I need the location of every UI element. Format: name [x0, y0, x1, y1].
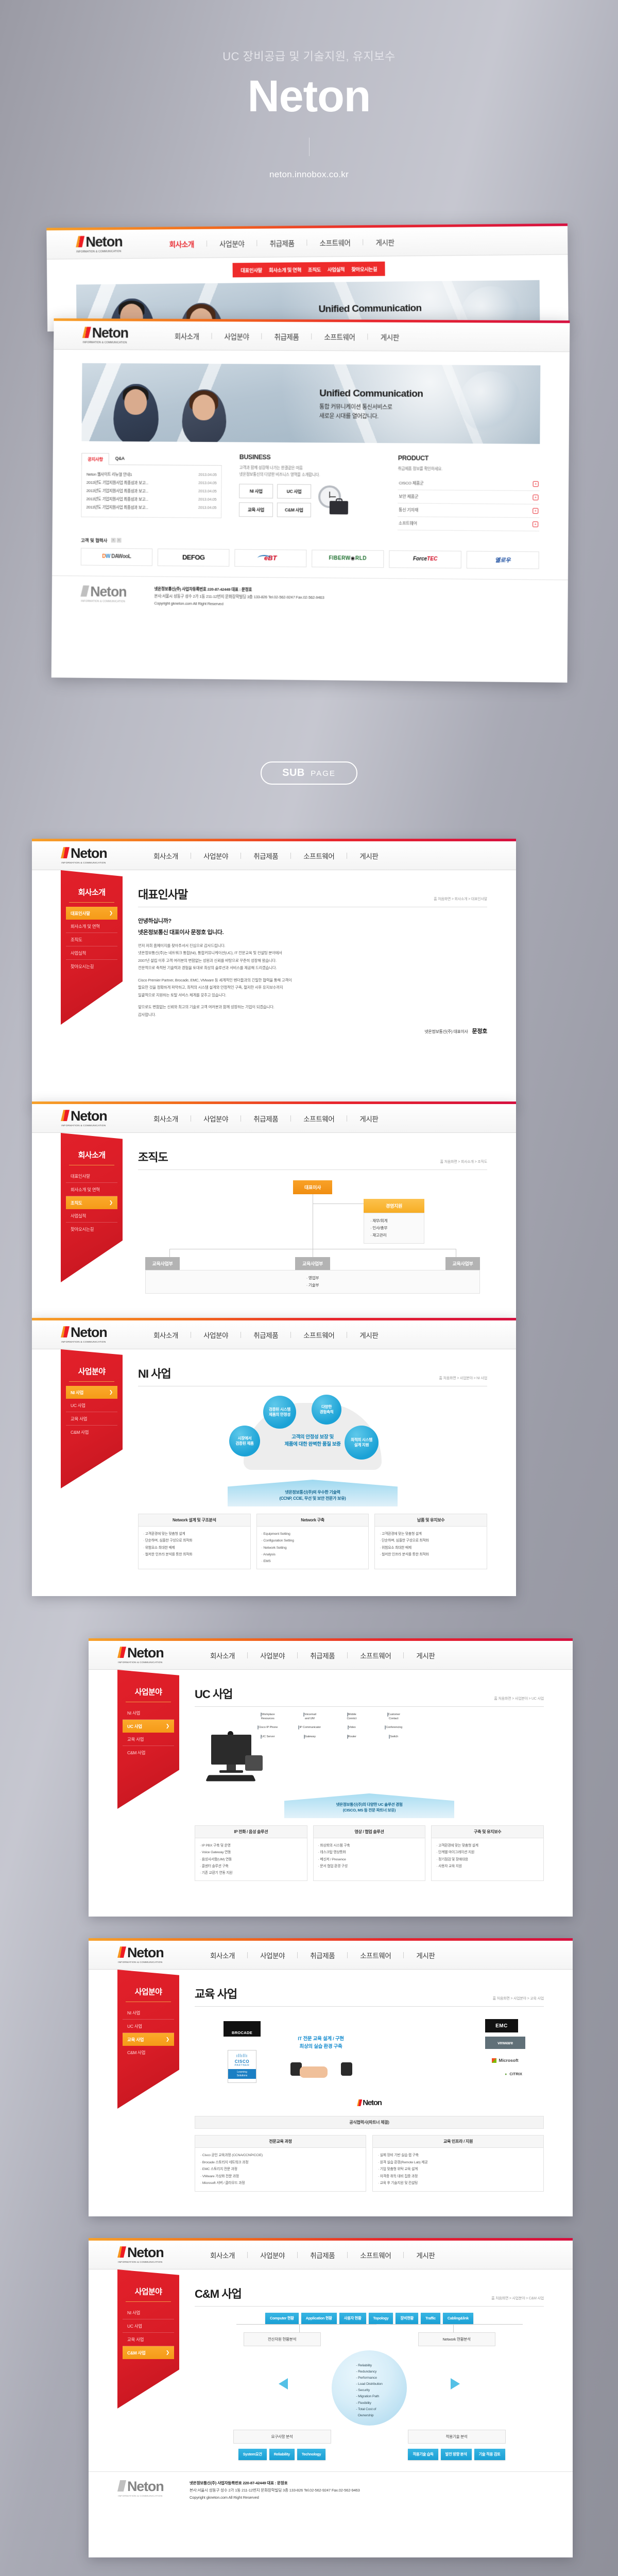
sidebar-item-label: NI 사업: [127, 2010, 140, 2016]
card-line: · Equipment Setting: [262, 1531, 364, 1537]
logo-tagline: INFORMATION & COMMUNICATION: [117, 2495, 174, 2498]
logo[interactable]: Neton INFORMATION & COMMUNICATION: [61, 846, 118, 865]
card-body: · Equipment Setting · Configuration Sett…: [257, 1527, 369, 1569]
brand-label: CITRIX: [509, 2072, 522, 2076]
uc-computer-illustration: [207, 1735, 261, 1786]
product-list: CISCO 제품군 + 보안 제품군 + 통신 기자재 + 소프트웨어 +: [398, 477, 540, 531]
nav-item-board[interactable]: 게시판: [347, 851, 390, 861]
card-line: · Voice Gateway 연동: [200, 1849, 302, 1856]
uc-icon-label: IP Communicator: [299, 1726, 321, 1729]
cm-mid-right: Network 현황분석: [418, 2332, 495, 2346]
microsoft-squares-icon: [492, 2058, 496, 2063]
nav-item-products[interactable]: 취급제품: [298, 1650, 347, 1660]
nav-item-board[interactable]: 게시판: [363, 236, 406, 247]
notice-title: 2013년도 기업지원사업 최종성과 보고...: [86, 504, 148, 511]
partner-name: DEFOG: [182, 553, 205, 561]
card-line: · EMS: [262, 1558, 364, 1565]
hero-divider: [309, 138, 310, 156]
notice-list: Neton 웹사이트 리뉴얼 안내1 2013.04.05 2013년도 기업지…: [81, 465, 221, 518]
logo-tagline: INFORMATION & COMMUNICATION: [117, 1662, 178, 1664]
list-item[interactable]: 2013년도 기업지원사업 최종성과 보고... 2013.04.05: [87, 486, 217, 496]
business-button-edu[interactable]: 교육 사업: [239, 502, 273, 517]
global-nav: 회사소개 사업분야 취급제품 소프트웨어 게시판: [141, 1330, 390, 1340]
ni-circle-3: 시장에서 검증된 제품: [229, 1426, 260, 1456]
side-nav-inner: 사업분야 NI 사업 ❯ UC 사업 ❯ 교육 사업 ❯ C: [61, 1352, 123, 1438]
subnav-item-greeting[interactable]: 대표인사말: [241, 266, 262, 274]
subpage-edu: Neton INFORMATION & COMMUNICATION 회사소개 사…: [89, 1938, 573, 2216]
cm-mid-row: 전산자원 현황분석 Network 현황분석: [195, 2332, 544, 2346]
uc-icon-label: Workplace Resources: [261, 1713, 275, 1720]
plus-icon[interactable]: +: [533, 508, 538, 514]
cm-pill-traffic: Traffic: [421, 2313, 440, 2324]
divider: [195, 1706, 544, 1707]
sidebar-item-label: NI 사업: [71, 1389, 83, 1396]
side-nav: 사업분야 NI 사업 ❯ UC 사업 ❯ 교육 사업 ❯ C: [117, 1970, 179, 2109]
uc-icon-customer: Customer Contact: [374, 1713, 414, 1721]
badge-normal-text: PAGE: [311, 769, 336, 778]
footer-logo: Neton INFORMATION & COMMUNICATION: [117, 2480, 171, 2498]
nav-item-board[interactable]: 게시판: [404, 1650, 447, 1660]
business-button-cm[interactable]: C&M 사업: [277, 502, 311, 517]
side-nav: 사업분야 NI 사업 ❯ UC 사업 ❯ 교육 사업 ❯ C: [117, 1670, 179, 1809]
site-header: Neton INFORMATION & COMMUNICATION 회사소개 사…: [32, 841, 516, 870]
subpage-main: C&M 사업 홈 처음화면 > 사업분야 > C&M 사업 Computer 현…: [179, 2269, 573, 2460]
sidebar-item-about[interactable]: 회사소개 및 연혁 ❯: [66, 1183, 117, 1196]
subpage-main: UC 사업 홈 처음화면 > 사업분야 > UC 사업 Workplace Re…: [179, 1670, 573, 1881]
sidebar-item-edu[interactable]: 교육 사업 ❯: [66, 1412, 117, 1426]
cm-bot-head-right: 적용기술 분석: [408, 2430, 506, 2444]
logo[interactable]: Neton INFORMATION & COMMUNICATION: [61, 1109, 118, 1127]
logo[interactable]: Neton INFORMATION & COMMUNICATION: [117, 2246, 175, 2264]
nav-item-products[interactable]: 취급제품: [241, 1113, 290, 1124]
ni-card-maintain: 납품 및 유지보수 · 고객환경에 맞는 맞춤형 설계 · 단순하며, 심플한 …: [374, 1514, 487, 1569]
uc-icon-voicemail: Voicemail and UM: [290, 1713, 330, 1721]
nav-item-software[interactable]: 소프트웨어: [348, 1650, 403, 1660]
banner-heading: Unified Communication: [318, 303, 421, 315]
list-item[interactable]: 2013년도 기업지원사업 최종성과 보고... 2013.04.05: [87, 495, 217, 504]
card-line: · 기업 맞춤형 위탁 교육 설계: [378, 2166, 538, 2173]
hero-subtitle: UC 장비공급 및 기술지원, 유지보수: [0, 47, 618, 64]
side-nav-inner: 회사소개 대표인사말 ❯ 회사소개 및 연혁 ❯ 조직도 ❯: [61, 1136, 123, 1235]
sidebar-item-ni[interactable]: NI 사업 ❯: [123, 1706, 174, 1720]
partner-logo-forcetec[interactable]: ForceTEC: [389, 550, 461, 568]
sidebar-item-ni[interactable]: NI 사업 ❯: [123, 2006, 174, 2020]
nav-item-board[interactable]: 게시판: [347, 1113, 390, 1124]
side-nav: 사업분야 NI 사업 ❯ UC 사업 ❯ 교육 사업 ❯ C: [61, 1349, 123, 1488]
subnav-item-directions[interactable]: 찾아오시는길: [351, 265, 377, 273]
index-mockup-front: Neton INFORMATION & COMMUNICATION 회사소개 사…: [51, 318, 570, 683]
brand-label: BROCADE: [232, 2030, 252, 2035]
uc-icon-gateway: Gateway: [290, 1735, 330, 1739]
sidebar-item-uc[interactable]: UC 사업 ❯: [66, 1399, 117, 1412]
ni-arrow-line-1: 넷온정보통신(주)의 우수한 기술력: [138, 1489, 487, 1496]
face-decor: [192, 395, 215, 420]
sidebar-item-label: 교육 사업: [127, 2037, 144, 2043]
sidebar-item-edu[interactable]: 교육 사업 ❯: [123, 1733, 174, 1746]
ni-arrow-line-2: (CCNP, CCIE, 무선 및 보안 전문가 보유): [138, 1496, 487, 1502]
plus-icon[interactable]: +: [533, 481, 539, 487]
nav-item-company[interactable]: 회사소개: [162, 330, 212, 341]
uc-icon-label: Customer Contact: [388, 1713, 400, 1720]
nav-item-products[interactable]: 취급제품: [298, 1950, 347, 1960]
brand-logo-cisco: ıllıllı CISCO PARTNER Learning Solutions: [228, 2050, 256, 2083]
uc-diagram: Workplace Resources Voicemail and UM Mob…: [195, 1713, 544, 1790]
uc-icon-conferencing: Conferencing: [374, 1726, 414, 1730]
nav-item-business[interactable]: 사업분야: [191, 1113, 241, 1124]
sidebar-item-label: C&M 사업: [71, 1429, 89, 1435]
signature-label: 넷온정보통신(주) 대표이사: [424, 1029, 468, 1034]
side-nav-inner: 사업분야 NI 사업 ❯ UC 사업 ❯ 교육 사업 ❯ C: [117, 1973, 179, 2059]
logo[interactable]: Neton INFORMATION & COMMUNICATION: [82, 326, 140, 344]
business-button-uc[interactable]: UC 사업: [277, 484, 311, 498]
list-item[interactable]: 2013년도 기업지원사업 최종성과 보고... 2013.04.05: [87, 478, 217, 487]
product-label: CISCO 제품군: [399, 480, 423, 486]
sidebar-item-records[interactable]: 사업실적 ❯: [66, 946, 117, 960]
card-line: · 원격 실습 환경(Remote Lab) 제공: [378, 2159, 538, 2166]
cm-pill-reliability: Reliability: [269, 2449, 295, 2460]
nav-item-business[interactable]: 사업분야: [207, 238, 257, 248]
uc-icon-mobile: Mobile Conntct: [332, 1713, 371, 1721]
sidebar-item-ni[interactable]: NI 사업 ❯: [123, 2306, 174, 2319]
card-line: · 음성사서함(UM) 연동: [200, 1856, 302, 1863]
side-nav-list: 대표인사말 ❯ 회사소개 및 연혁 ❯ 조직도 ❯ 사업실적 ❯: [66, 907, 117, 973]
greeting-paragraphs: 먼저 저희 홈페이지를 찾아주셔서 진심으로 감사드립니다. 넷온정보통신(주)…: [138, 942, 487, 1019]
sidebar-item-label: 교육 사업: [127, 2336, 144, 2343]
ni-arrow-text: 넷온정보통신(주)의 우수한 기술력 (CCNP, CCIE, 무선 및 보안 …: [138, 1489, 487, 1502]
partner-logos: DW DAWooL DEFOG eBT FIBERW◉RLD ForceTEC …: [81, 548, 539, 569]
card-line: · Network Setting: [262, 1545, 364, 1551]
uc-icon-router: Router: [332, 1735, 371, 1739]
cm-connector: [299, 2324, 300, 2332]
partner-logo-dawool[interactable]: DW DAWooL: [81, 548, 152, 566]
divider: [195, 2306, 544, 2307]
notice-title: Neton 웹사이트 리뉴얼 안내1: [87, 471, 132, 478]
notice-date: 2013.04.05: [195, 505, 216, 511]
subnav-item-about[interactable]: 회사소개 및 연혁: [269, 266, 301, 274]
subpage-main: NI 사업 홈 처음화면 > 사업분야 > NI 사업 검증된 시스템 제품의 …: [123, 1349, 516, 1569]
nav-item-board[interactable]: 게시판: [404, 1950, 447, 1960]
ni-center-text: 고객의 안정성 보장 및 제품에 대한 완벽한 품질 보증: [284, 1434, 340, 1449]
sidebar-item-label: C&M 사업: [127, 1750, 145, 1756]
sidebar-item-edu[interactable]: 교육 사업 ❯: [123, 2033, 174, 2046]
card-line: · 메신저 / Presence: [318, 1856, 421, 1863]
logo-slash-icon: [76, 236, 84, 247]
side-nav-title: 회사소개: [69, 887, 114, 903]
greeting-question: 안녕하십니까?: [138, 917, 487, 925]
sidebar-item-cm[interactable]: C&M 사업 ❯: [123, 1746, 174, 1759]
nav-item-company[interactable]: 회사소개: [141, 1330, 191, 1340]
cm-pill-computer: Computer 현황: [265, 2313, 299, 2324]
breadcrumb: 홈 처음화면 > 회사소개 > 조직도: [138, 1159, 487, 1164]
logo[interactable]: Neton INFORMATION & COMMUNICATION: [76, 235, 134, 253]
subnav-item-records[interactable]: 사업실적: [328, 265, 345, 273]
footer-logo-inline: Neton: [354, 2099, 384, 2107]
sidebar-item-org[interactable]: 조직도 ❯: [66, 933, 117, 946]
edu-heading-1: IT 전문 교육 설계 / 구현: [272, 2036, 370, 2043]
nav-item-business[interactable]: 사업분야: [248, 1950, 297, 1960]
logo[interactable]: Neton INFORMATION & COMMUNICATION: [117, 1946, 175, 1964]
org-connector: [456, 1249, 456, 1257]
nav-item-software[interactable]: 소프트웨어: [348, 1950, 403, 1960]
nav-item-business[interactable]: 사업분야: [248, 2250, 297, 2260]
cm-globe-item: - Flexibility: [356, 2400, 382, 2406]
nav-item-board[interactable]: 게시판: [347, 1330, 390, 1340]
cm-connector: [453, 2324, 454, 2332]
nav-item-software[interactable]: 소프트웨어: [291, 851, 347, 861]
product-label: 보안 제품군: [399, 494, 418, 499]
org-support-group: 경영지원 · 재무/회계 · 인사/총무 · 재고관리: [364, 1199, 424, 1244]
logo-wordmark: Neton: [61, 1109, 118, 1123]
partners-arrows: ‹ ›: [111, 538, 121, 543]
org-chart: 대표이사 경영지원 · 재무/회계 · 인사/총무 · 재고관리: [138, 1170, 487, 1294]
nav-item-business[interactable]: 사업분야: [191, 851, 241, 861]
nav-item-business[interactable]: 사업분야: [191, 1330, 241, 1340]
chevron-right-icon: ❯: [109, 910, 113, 916]
sub-nav: 대표인사말 회사소개 및 연혁 조직도 사업실적 찾아오시는길: [233, 262, 385, 278]
uc-icon-label: Conferencing: [386, 1726, 402, 1729]
cm-globe-item: - Total Cost of: [356, 2406, 382, 2413]
side-nav-list: NI 사업 ❯ UC 사업 ❯ 교육 사업 ❯ C&M 사업 ❯: [123, 2006, 174, 2059]
nav-item-software[interactable]: 소프트웨어: [291, 1113, 347, 1124]
side-nav: 회사소개 대표인사말 ❯ 회사소개 및 연혁 ❯ 조직도 ❯: [61, 870, 123, 1025]
side-nav-title: 사업분야: [126, 2286, 171, 2302]
sidebar-item-directions[interactable]: 찾아오시는길 ❯: [66, 1223, 117, 1235]
uc-icon-label: Switch: [390, 1735, 398, 1738]
uc-card-voice: IP 전화 / 음성 솔루션 · IP PBX 구축 및 운영 · Voice …: [195, 1825, 307, 1881]
nav-item-products[interactable]: 취급제품: [241, 1330, 290, 1340]
greeting-p4: 전문적으로 축적된 기술력과 경험을 토대로 최상의 솔루션과 서비스를 제공해…: [138, 964, 487, 972]
sidebar-item-uc[interactable]: UC 사업 ❯: [123, 1720, 174, 1733]
cm-pill-application: Application 현황: [301, 2313, 337, 2324]
side-nav-title: 사업분야: [126, 1986, 171, 2002]
uc-icon-label: Gateway: [305, 1735, 316, 1738]
product-label: 통신 기자재: [399, 507, 418, 513]
footer-line-3: Copyright gkneton.com All Right Reserved: [190, 2494, 360, 2501]
card-line: · Analysis: [262, 1551, 364, 1558]
greeting-p9: 감사합니다.: [138, 1011, 487, 1019]
list-item[interactable]: Neton 웹사이트 리뉴얼 안내1 2013.04.05: [87, 470, 217, 479]
logo-slash-icon: [80, 585, 89, 597]
sidebar-item-cm[interactable]: C&M 사업 ❯: [123, 2046, 174, 2059]
product-desc: 취급제품 정보를 확인하세요.: [398, 466, 540, 473]
card-body: · 고객환경에 맞는 맞춤형 설계 · 단계별 마이그레이션 지원 · 정기점검…: [432, 1838, 543, 1874]
card-body: · Cisco 공인 교육과정 (CCNA/CCNP/CCIE) · Broca…: [195, 2148, 366, 2191]
nav-item-software[interactable]: 소프트웨어: [307, 237, 363, 248]
nav-item-business[interactable]: 사업분야: [248, 1650, 297, 1660]
org-node-support: 경영지원: [364, 1199, 424, 1213]
subnav-item-org[interactable]: 조직도: [308, 266, 321, 273]
partner-logo-yellow[interactable]: 옐로우: [467, 551, 539, 569]
org-dept-list: · 영업부 · 기술부: [145, 1270, 480, 1294]
nav-item-company[interactable]: 회사소개: [141, 851, 191, 861]
nav-item-products[interactable]: 취급제품: [241, 851, 290, 861]
chevron-left-icon[interactable]: ‹: [111, 538, 115, 543]
cm-globe-section: - Reliability - Redundancy - Performance…: [195, 2349, 544, 2427]
sidebar-item-uc[interactable]: UC 사업 ❯: [123, 2020, 174, 2033]
logo-slash-icon: [61, 1110, 70, 1121]
ni-circle-4: 최적의 시스템 설계 지원: [345, 1426, 379, 1460]
nav-item-board[interactable]: 게시판: [404, 2250, 447, 2260]
sidebar-item-ni[interactable]: NI 사업 ❯: [66, 1386, 117, 1399]
site-footer: Neton INFORMATION & COMMUNICATION 넷온정보통신…: [52, 575, 568, 621]
list-item[interactable]: 보안 제품군 +: [398, 490, 539, 504]
sidebar-item-uc[interactable]: UC 사업 ❯: [123, 2319, 174, 2333]
sidebar-item-label: 찾아오시는길: [71, 1226, 94, 1232]
org-connector: [313, 1194, 313, 1204]
sidebar-item-label: 교육 사업: [127, 1736, 144, 1742]
footer-line-1: 넷온정보통신(주) 사업자등록번호 220-87-42449 대표 : 문정호: [190, 2480, 360, 2487]
sidebar-item-label: 교육 사업: [71, 1416, 87, 1422]
sidebar-item-label: 사업실적: [71, 1213, 86, 1219]
logo-wordmark: Neton: [82, 326, 140, 340]
logo-wordmark: Neton: [117, 1946, 175, 1960]
edu-partner-line: Neton: [195, 2099, 544, 2107]
card-line: · 위험요소 최대한 배제: [143, 1545, 246, 1551]
sidebar-item-directions[interactable]: 찾아오시는길 ❯: [66, 960, 117, 973]
subpage-greeting: Neton INFORMATION & COMMUNICATION 회사소개 사…: [32, 839, 516, 1107]
card-line: · 기존 교환기 연동 지원: [200, 1870, 302, 1876]
card-body: · 실제 장비 기반 실습 랩 구축 · 원격 실습 환경(Remote Lab…: [373, 2148, 543, 2191]
sidebar-item-records[interactable]: 사업실적 ❯: [66, 1209, 117, 1223]
nav-item-software[interactable]: 소프트웨어: [348, 2250, 403, 2260]
logo-wordmark: Neton: [76, 235, 134, 249]
sidebar-item-greeting[interactable]: 대표인사말 ❯: [66, 1170, 117, 1183]
ni-card-build: Network 구축 · Equipment Setting · Configu…: [256, 1514, 369, 1569]
tab-notice[interactable]: 공지사항: [81, 453, 109, 465]
sidebar-item-cm[interactable]: C&M 사업 ❯: [123, 2346, 174, 2359]
card-line: · 교육 후 기술지원 및 컨설팅: [378, 2180, 538, 2187]
nav-item-company[interactable]: 회사소개: [198, 1950, 247, 1960]
nav-item-company[interactable]: 회사소개: [157, 238, 207, 249]
nav-item-products[interactable]: 취급제품: [257, 238, 306, 248]
uc-icon-ipphone: Cisco IP Phone: [248, 1726, 287, 1730]
logo-tagline: INFORMATION & COMMUNICATION: [76, 250, 137, 253]
partner-logo-fiberworld[interactable]: FIBERW◉RLD: [312, 550, 384, 568]
nav-item-products[interactable]: 취급제품: [298, 2250, 347, 2260]
subpage-org: Neton INFORMATION & COMMUNICATION 회사소개 사…: [32, 1101, 516, 1318]
logo[interactable]: Neton INFORMATION & COMMUNICATION: [117, 1646, 175, 1664]
card-line: · 철저한 인프라 분석를 통한 최적화: [380, 1551, 482, 1558]
uc-icon-label: Cisco IP Phone: [259, 1726, 278, 1729]
org-connector: [169, 1249, 170, 1257]
logo-slash-icon: [117, 2480, 126, 2492]
nav-item-board[interactable]: 게시판: [368, 331, 411, 342]
sidebar-item-label: C&M 사업: [127, 2350, 146, 2356]
partner-name: eBT: [264, 554, 277, 562]
logo-slash-icon: [61, 847, 70, 858]
sidebar-item-org[interactable]: 조직도 ❯: [66, 1196, 117, 1209]
greeting-p3: 2007년 설립 이후 고객 여러분의 변함없는 성원과 신뢰를 바탕으로 꾸준…: [138, 957, 487, 964]
org-support-item: · 인사/총무: [370, 1225, 418, 1232]
cm-bot-pills-left: System요건 Reliability Technology: [233, 2449, 331, 2460]
brand-label: Microsoft: [499, 2058, 518, 2063]
logo-slash-icon: [117, 1946, 126, 1958]
sidebar-item-label: 사업실적: [71, 950, 86, 956]
edu-cards: 전문교육 과정 · Cisco 공인 교육과정 (CCNA/CCNP/CCIE)…: [195, 2135, 544, 2192]
partner-logo-defog[interactable]: DEFOG: [158, 548, 230, 566]
subpage-body: 사업분야 NI 사업 ❯ UC 사업 ❯ 교육 사업 ❯ C: [89, 1670, 573, 1881]
business-button-ni[interactable]: NI 사업: [239, 484, 273, 498]
partner-logo-ebt[interactable]: eBT: [234, 549, 306, 567]
tab-qna[interactable]: Q&A: [109, 453, 131, 465]
logo-tagline: INFORMATION & COMMUNICATION: [61, 1125, 122, 1127]
sidebar-item-cm[interactable]: C&M 사업 ❯: [66, 1426, 117, 1438]
business-desc: 고객과 함께 성장해 나가는 한결같은 마음 넷온정보통신의 다양한 비즈니스 …: [239, 465, 380, 479]
cm-pill-direction: 발전 방향 분석: [441, 2449, 472, 2460]
site-header: Neton INFORMATION & COMMUNICATION 회사소개 사…: [89, 1941, 573, 1970]
uc-card-video: 영상 / 협업 솔루션 · 화상회의 시스템 구축 · 데스크탑 영상통화 · …: [313, 1825, 426, 1881]
badge-bold-text: SUB: [282, 767, 305, 778]
list-item[interactable]: 2013년도 기업지원사업 최종성과 보고... 2013.04.05: [86, 503, 216, 513]
nav-item-software[interactable]: 소프트웨어: [291, 1330, 347, 1340]
plus-icon[interactable]: +: [533, 495, 538, 500]
cm-bot-pills-right: 적용기술 습득 발전 방향 분석 기술 적용 검토: [408, 2449, 506, 2460]
list-item[interactable]: CISCO 제품군 +: [398, 477, 539, 491]
org-dept-item: · 기술부: [152, 1282, 474, 1289]
breadcrumb: 홈 처음화면 > 사업분야 > 교육 사업: [195, 1996, 544, 2001]
hero-banner: Unified Communication 통합 커뮤니케이션 통신서비스로 새…: [81, 363, 540, 444]
card-line: · IP PBX 구축 및 운영: [200, 1842, 302, 1849]
notice-date: 2013.04.05: [195, 472, 216, 478]
keyboard-decor: [205, 1775, 256, 1781]
list-item[interactable]: 소프트웨어 +: [398, 517, 539, 531]
nav-item-software[interactable]: 소프트웨어: [312, 331, 367, 342]
footer-info: 넷온정보통신(주) 사업자등록번호 220-87-42449 대표 : 문정호 …: [190, 2480, 360, 2501]
side-nav-list: 대표인사말 ❯ 회사소개 및 연혁 ❯ 조직도 ❯ 사업실적 ❯: [66, 1170, 117, 1235]
side-nav-title: 사업분야: [126, 1686, 171, 1702]
handshake-icon: [290, 2061, 352, 2086]
list-item[interactable]: 통신 기자재 +: [398, 503, 539, 518]
subpage-uc: Neton INFORMATION & COMMUNICATION 회사소개 사…: [89, 1638, 573, 1917]
sidebar-item-greeting[interactable]: 대표인사말 ❯: [66, 907, 117, 920]
arrow-right-icon: [279, 2378, 288, 2389]
card-line: · 철저한 인프라 분석를 통한 최적화: [143, 1551, 246, 1558]
uc-icon-label: Voicemail and UM: [304, 1713, 316, 1720]
banner-text: Unified Communication 통합 커뮤니케이션 통신서비스로 새…: [319, 388, 423, 421]
cisco-bars-icon: ıllıllı: [228, 2055, 256, 2057]
global-nav: 회사소개 사업분야 취급제품 소프트웨어 게시판: [198, 1650, 447, 1660]
logo-wordmark: Neton: [80, 585, 134, 599]
partner-name: DW DAWooL: [102, 554, 131, 560]
card-body: · 고객환경에 맞는 맞춤형 설계 · 단순하며, 심플한 구성으로 최적화 ·…: [139, 1527, 250, 1562]
card-line: · 자격증 취득 대비 집중 과정: [378, 2173, 538, 2180]
nav-item-products[interactable]: 취급제품: [262, 331, 311, 341]
signature: 넷온정보통신(주) 대표이사 문정호: [138, 1027, 487, 1035]
logo[interactable]: Neton INFORMATION & COMMUNICATION: [61, 1326, 118, 1344]
nav-item-business[interactable]: 사업분야: [212, 331, 262, 341]
index-columns: 공지사항 Q&A Neton 웹사이트 리뉴얼 안내1 2013.04.05 2…: [53, 441, 569, 532]
subpage-body: 회사소개 대표인사말 ❯ 회사소개 및 연혁 ❯ 조직도 ❯: [32, 1133, 516, 1294]
nav-item-company[interactable]: 회사소개: [141, 1113, 191, 1124]
card-heading: 교육 인프라 / 지원: [373, 2136, 543, 2148]
ni-cards: Network 설계 및 구조분석 · 고객환경에 맞는 맞춤형 설계 · 단순…: [138, 1514, 487, 1569]
chevron-right-icon[interactable]: ›: [116, 538, 121, 543]
sidebar-item-edu[interactable]: 교육 사업 ❯: [123, 2333, 174, 2346]
site-header: Neton INFORMATION & COMMUNICATION 회사소개 사…: [32, 1320, 516, 1349]
side-nav-list: NI 사업 ❯ UC 사업 ❯ 교육 사업 ❯ C&M 사업 ❯: [123, 1706, 174, 1759]
nav-item-company[interactable]: 회사소개: [198, 1650, 247, 1660]
card-line: · 단순하며, 심플한 구성으로 최적화: [380, 1537, 482, 1544]
notice-title: 2013년도 기업지원사업 최종성과 보고...: [87, 488, 148, 494]
chevron-right-icon: ❯: [109, 1389, 113, 1395]
nav-item-company[interactable]: 회사소개: [198, 2250, 247, 2260]
sidebar-item-label: NI 사업: [127, 2310, 140, 2316]
card-body: · 화상회의 시스템 구축 · 데스크탑 영상통화 · 메신저 / Presen…: [314, 1838, 425, 1874]
sidebar-item-about[interactable]: 회사소개 및 연혁 ❯: [66, 920, 117, 933]
plus-icon[interactable]: +: [533, 521, 538, 527]
uc-icon-workplace: Workplace Resources: [248, 1713, 287, 1721]
ni-center-line-1: 고객의 안정성 보장 및: [284, 1434, 340, 1441]
